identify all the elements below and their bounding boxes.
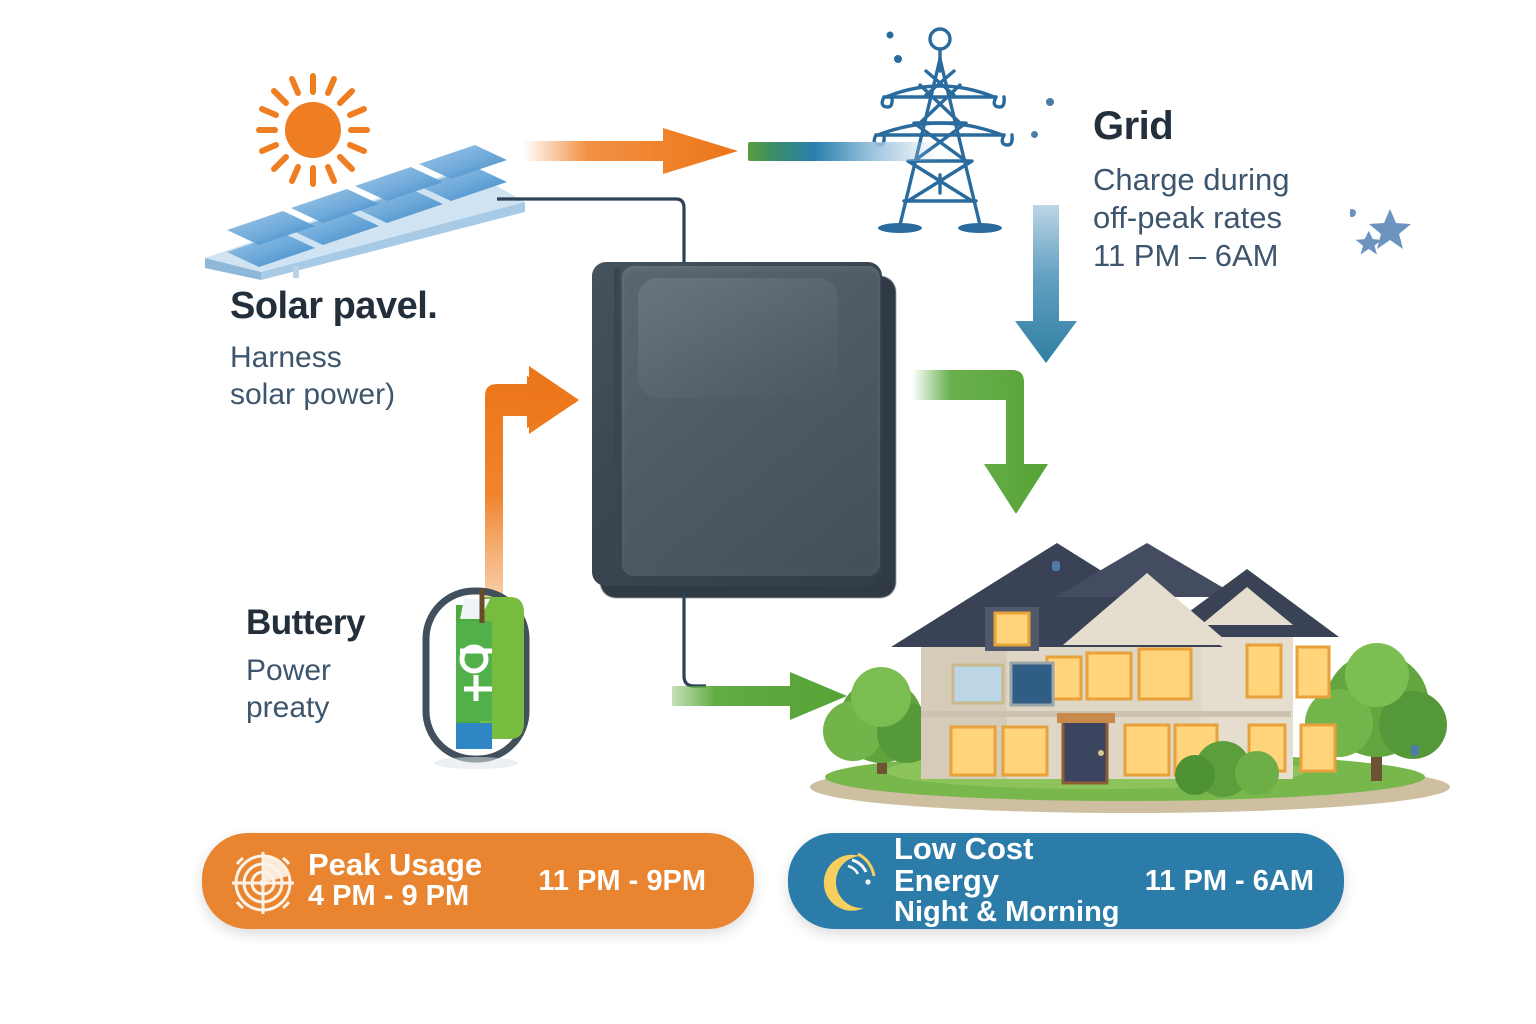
radar-dial-icon — [224, 846, 302, 916]
arrow-solar-to-grid — [523, 128, 738, 174]
peak-usage-subtitle: 4 PM - 9 PM — [308, 881, 482, 912]
arrow-battery-to-unit — [447, 358, 582, 600]
peak-usage-pill[interactable]: Peak Usage 4 PM - 9 PM 11 PM - 9PM — [202, 833, 754, 929]
arrow-unit-to-house-upper — [912, 366, 1072, 526]
low-cost-time: 11 PM - 6AM — [1145, 865, 1314, 898]
house-illustration — [795, 525, 1465, 815]
peak-usage-texts: Peak Usage 4 PM - 9 PM — [308, 849, 482, 912]
dot-decoration — [1031, 131, 1038, 138]
low-cost-texts: Low Cost Energy Night & Morning — [894, 833, 1145, 928]
low-cost-subtitle: Night & Morning — [894, 897, 1145, 928]
crescent-moon-icon — [810, 846, 888, 916]
dot-decoration — [1046, 98, 1054, 106]
small-battery-icon — [418, 575, 538, 770]
arrow-grid-to-unit — [1015, 205, 1085, 365]
low-cost-energy-pill[interactable]: Low Cost Energy Night & Morning 11 PM - … — [788, 833, 1344, 929]
dot-decoration — [1052, 561, 1060, 571]
low-cost-title: Low Cost Energy — [894, 833, 1145, 897]
dot-decoration — [1411, 745, 1419, 756]
peak-usage-title: Peak Usage — [308, 849, 482, 881]
peak-usage-time: 11 PM - 9PM — [538, 865, 706, 898]
infographic-canvas: Solar pavel. Harness solar power) Butter… — [0, 0, 1536, 1024]
